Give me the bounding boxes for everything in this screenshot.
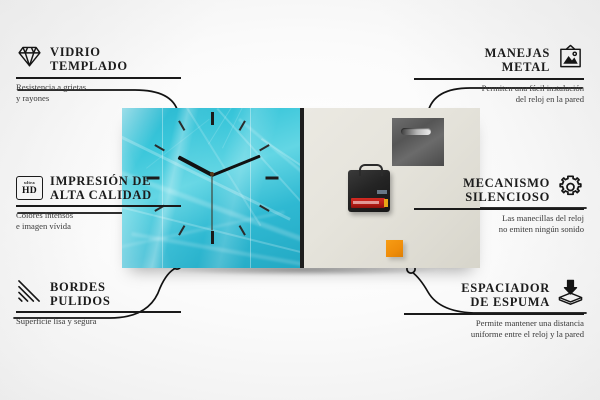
hanger-slot [401,128,431,135]
foam-spacer-icon [557,279,584,310]
gear-icon [557,174,584,205]
callout-divider [414,78,584,80]
callout-title-line1: VIDRIO [50,45,128,59]
metal-hanger-plate [392,118,444,166]
ultra-hd-icon: ultra HD [16,176,43,200]
callout-divider [16,205,181,207]
callout-sub-line1: Las manecillas del reloj [414,213,584,224]
callout-divider [16,311,181,313]
callout-sub-line1: Colores intensos [16,210,186,221]
callout-sub-line2: uniforme entre el reloj y la pared [404,329,584,340]
callout-title-line1: ESPACIADOR [461,281,550,295]
callout-espaciador-espuma: ESPACIADOR DE ESPUMA Permite mantener un… [404,279,584,340]
callout-sub-line2: y rayones [16,93,186,104]
callout-title-line2: ALTA CALIDAD [50,188,152,202]
clock-center-pin [210,172,214,176]
callout-sub-line2: del reloj en la pared [414,94,584,105]
callout-divider [404,313,584,315]
callout-bordes-pulidos: BORDES PULIDOS Superficie lisa y segura [16,279,186,327]
clock-mechanism-box [348,170,390,212]
callout-mecanismo-silencioso: MECANISMO SILENCIOSO Las manecillas del … [414,174,584,235]
picture-frame-hook-icon [557,44,584,75]
callout-title-line2: DE ESPUMA [461,295,550,309]
callout-sub-line1: Resistencia a grietas [16,82,186,93]
callout-sub-line1: Superficie lisa y segura [16,316,186,327]
diamond-icon [16,44,43,74]
callout-divider [16,77,181,79]
ultra-hd-icon-main-text: HD [22,186,37,196]
foam-spacer-pad [386,240,403,257]
bevel-edges-icon [16,279,43,308]
callout-title-line2: METAL [485,60,550,74]
callout-title-line1: BORDES [50,280,110,294]
callout-impresion-alta-calidad: ultra HD IMPRESIÓN DE ALTA CALIDAD Color… [16,174,186,232]
mechanism-hook [359,164,383,176]
mechanism-label [377,190,387,194]
callout-vidrio-templado: VIDRIO TEMPLADO Resistencia a grietas y … [16,44,186,104]
battery [351,198,385,208]
callout-sub-line1: Permite mantener una distancia [404,318,584,329]
infographic-canvas: VIDRIO TEMPLADO Resistencia a grietas y … [0,0,600,400]
callout-title-line1: IMPRESIÓN DE [50,174,152,188]
callout-title-line2: SILENCIOSO [463,190,550,204]
callout-title-line1: MECANISMO [463,176,550,190]
callout-divider [414,208,584,210]
callout-title-line1: MANEJAS [485,46,550,60]
clock-second-hand [212,175,213,231]
callout-title-line2: TEMPLADO [50,59,128,73]
callout-manejas-metal: MANEJAS METAL Permiten una fácil instala… [414,44,584,105]
callout-sub-line2: e imagen vívida [16,221,186,232]
callout-sub-line2: no emiten ningún sonido [414,224,584,235]
callout-sub-line1: Permiten una fácil instalación [414,83,584,94]
callout-title-line2: PULIDOS [50,294,110,308]
